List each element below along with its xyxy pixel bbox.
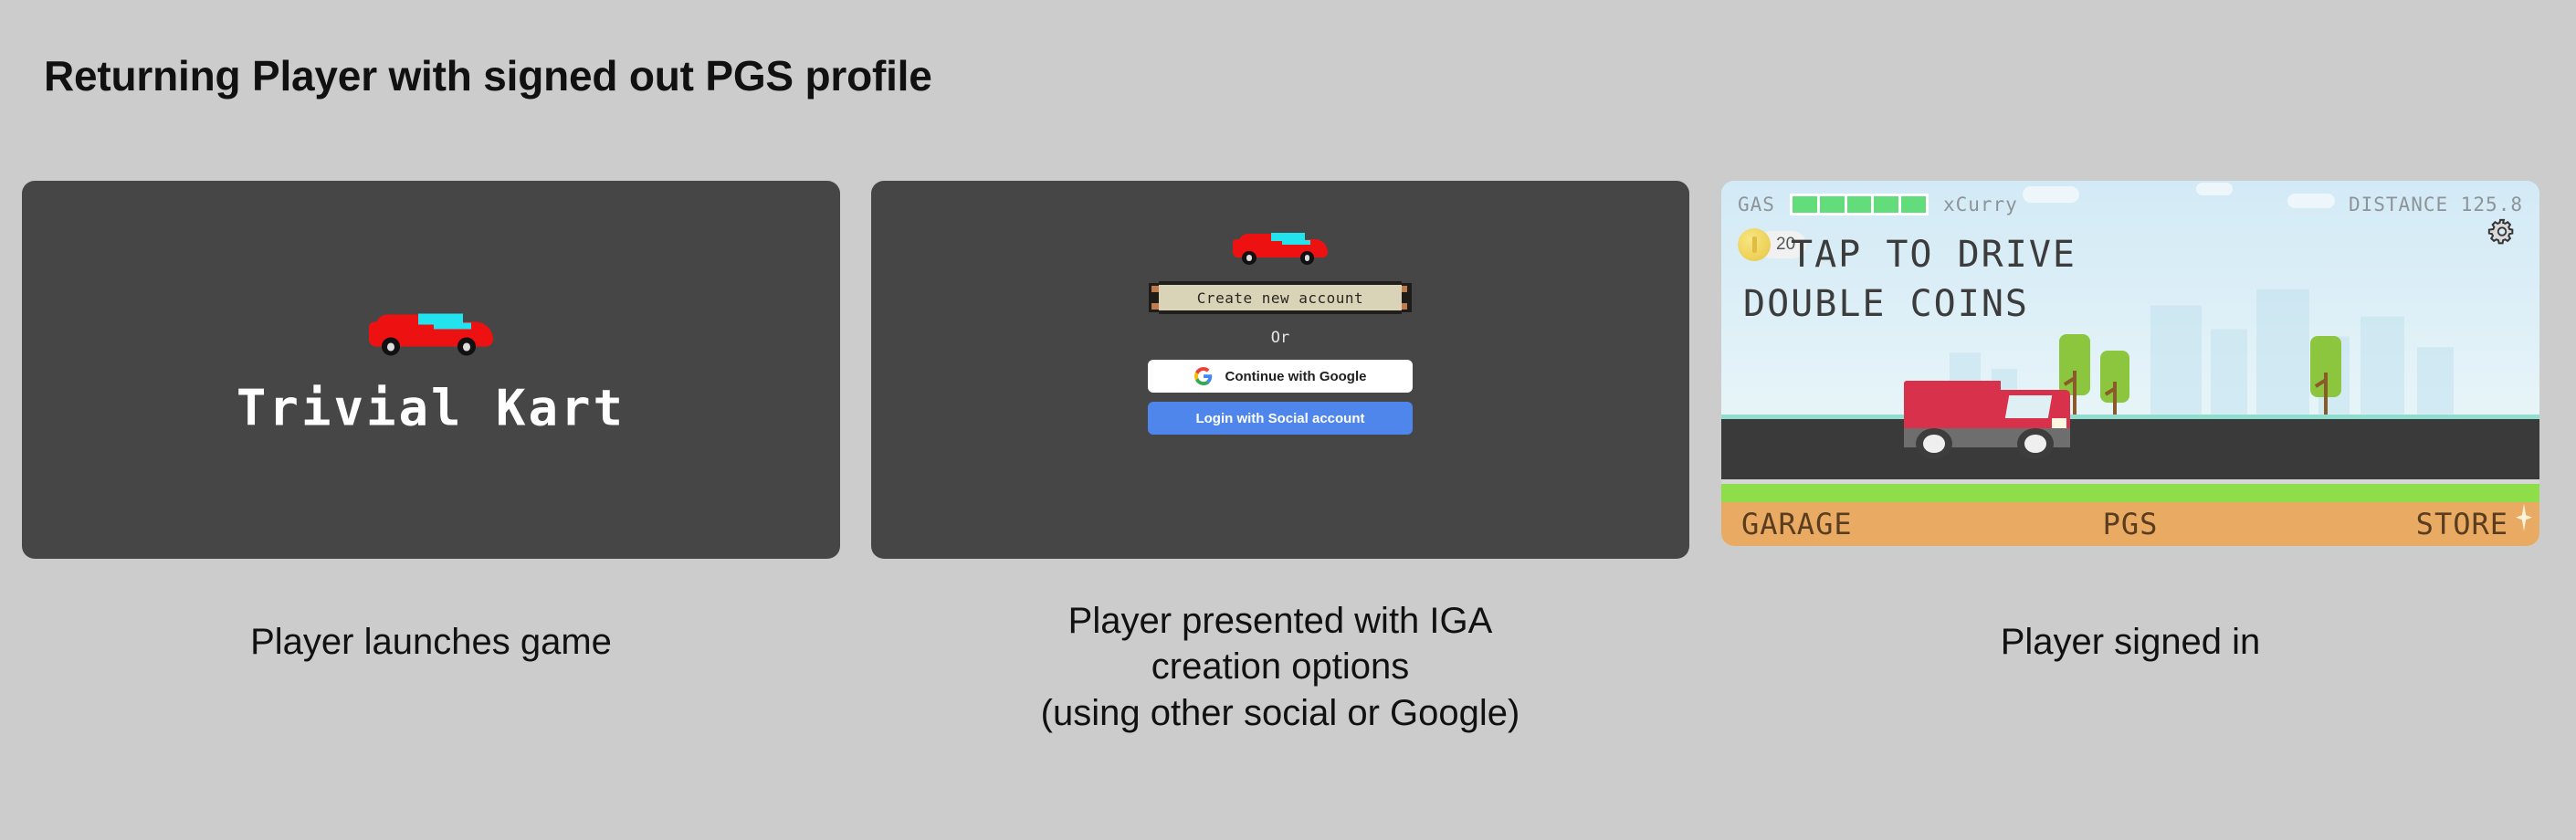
car-wheel-front	[1242, 251, 1256, 265]
gas-segment	[1793, 196, 1820, 213]
car-window-rear	[434, 323, 471, 330]
hud-top-row: GAS xCurry DISTANCE 125.8	[1738, 194, 2523, 215]
game-hud: GAS xCurry DISTANCE 125.8 20	[1721, 181, 2539, 546]
panel-game-signed-in: GARAGE PGS STORE GAS xCurry	[1721, 181, 2539, 546]
red-car-sprite	[369, 303, 493, 356]
distance-label: DISTANCE 125.8	[2349, 194, 2523, 215]
continue-with-google-button[interactable]: Continue with Google	[1148, 360, 1413, 393]
or-divider-label: Or	[1271, 329, 1289, 347]
gas-segment	[1820, 196, 1847, 213]
google-g-icon	[1194, 367, 1213, 385]
page-title: Returning Player with signed out PGS pro…	[44, 51, 932, 100]
caption-line: Player presented with IGA	[871, 598, 1689, 644]
launch-content: Trivial Kart	[22, 303, 840, 437]
gas-label: GAS	[1738, 194, 1775, 215]
login-with-social-button[interactable]: Login with Social account	[1148, 402, 1413, 435]
caption-line: (using other social or Google)	[871, 690, 1689, 736]
player-name-label: xCurry	[1943, 194, 2018, 215]
panel-launch-screen: Trivial Kart	[22, 181, 840, 559]
car-wheel-rear	[1300, 251, 1315, 265]
promo-line-double-coins: DOUBLE COINS	[1743, 283, 2029, 325]
promo-line-tap-to-drive: TAP TO DRIVE	[1791, 234, 2077, 276]
game-title-logo: Trivial Kart	[237, 380, 626, 437]
create-account-label: Create new account	[1197, 289, 1363, 307]
red-car-sprite	[1233, 225, 1328, 265]
create-new-account-button[interactable]: Create new account	[1149, 278, 1412, 318]
slide-root: Returning Player with signed out PGS pro…	[0, 0, 2576, 840]
panel-row: Trivial Kart Create new accoun	[0, 181, 2576, 573]
panel-iga-options: Create new account Or Continue with Goog…	[871, 181, 1689, 559]
google-button-label: Continue with Google	[1225, 369, 1367, 384]
caption-launch: Player launches game	[22, 619, 840, 665]
gear-icon[interactable]	[2487, 217, 2518, 248]
car-wheel-front	[382, 338, 400, 356]
gas-segment	[1874, 196, 1901, 213]
social-button-label: Login with Social account	[1195, 411, 1364, 426]
caption-line: creation options	[871, 644, 1689, 689]
gas-segment	[1901, 196, 1926, 213]
car-wheel-rear	[457, 338, 476, 356]
caption-iga-options: Player presented with IGA creation optio…	[871, 598, 1689, 736]
iga-content: Create new account Or Continue with Goog…	[871, 225, 1689, 435]
gas-meter	[1790, 194, 1929, 215]
caption-signed-in: Player signed in	[1721, 619, 2539, 665]
sign-plate: Create new account	[1159, 281, 1402, 314]
coin-icon	[1738, 228, 1771, 261]
car-window-rear	[1282, 240, 1310, 245]
gas-segment	[1847, 196, 1875, 213]
